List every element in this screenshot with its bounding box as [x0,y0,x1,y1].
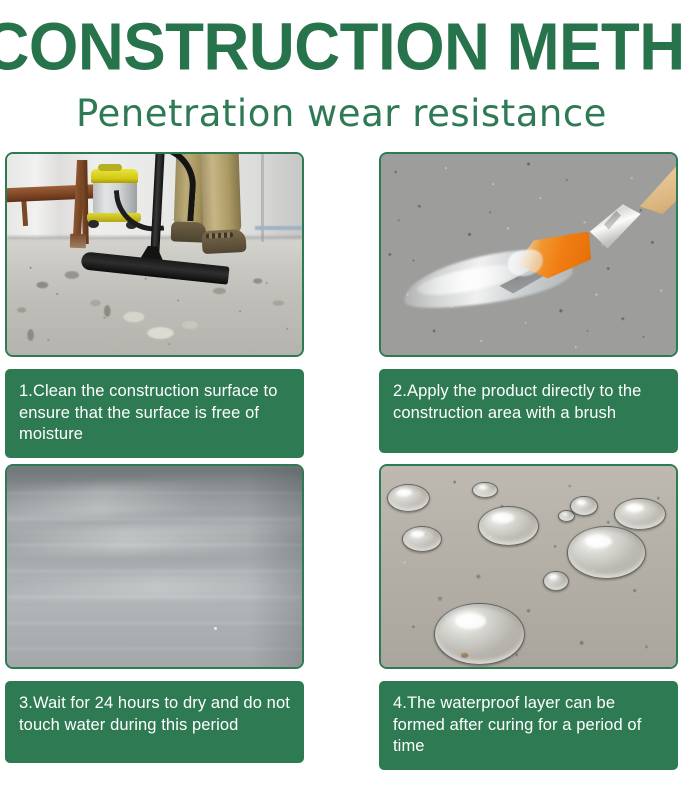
worker-pant-right [200,152,241,235]
vacuum-handle [98,164,122,171]
brush-application-scene [381,154,676,355]
floor-speck [214,627,217,630]
water-bead [434,603,525,665]
water-bead [567,526,646,578]
step-card-4: 4.The waterproof layer can be formed aft… [379,464,678,770]
page-title-text: CONSTRUCTION METHOD [0,12,683,81]
baseboard [255,226,302,230]
header: CONSTRUCTION METHOD Penetration wear res… [0,0,683,146]
water-bead [543,571,569,591]
steps-grid: 1.Clean the construction surface to ensu… [0,146,683,800]
bead-blemish [461,653,468,658]
squeegee-cleaning-scene [7,154,302,355]
step-4-photo [379,464,678,669]
step-2-photo [379,152,678,357]
page-title: CONSTRUCTION METHOD [6,16,678,78]
page-subtitle: Penetration wear resistance [0,92,683,136]
step-1-photo [5,152,304,357]
step-card-1: 1.Clean the construction surface to ensu… [5,152,304,458]
step-2-caption: 2.Apply the product directly to the cons… [379,369,678,453]
water-beading-scene [381,466,676,667]
step-3-photo [5,464,304,669]
step-3-caption: 3.Wait for 24 hours to dry and do not to… [5,681,304,763]
vacuum-motor-head [91,169,138,183]
cured-floor-scene [7,466,302,667]
step-4-caption: 4.The waterproof layer can be formed aft… [379,681,678,770]
step-card-2: 2.Apply the product directly to the cons… [379,152,678,453]
floor-right-shading [249,466,302,667]
step-1-caption: 1.Clean the construction surface to ensu… [5,369,304,458]
step-card-3: 3.Wait for 24 hours to dry and do not to… [5,464,304,763]
infographic-page: CONSTRUCTION METHOD Penetration wear res… [0,0,683,800]
